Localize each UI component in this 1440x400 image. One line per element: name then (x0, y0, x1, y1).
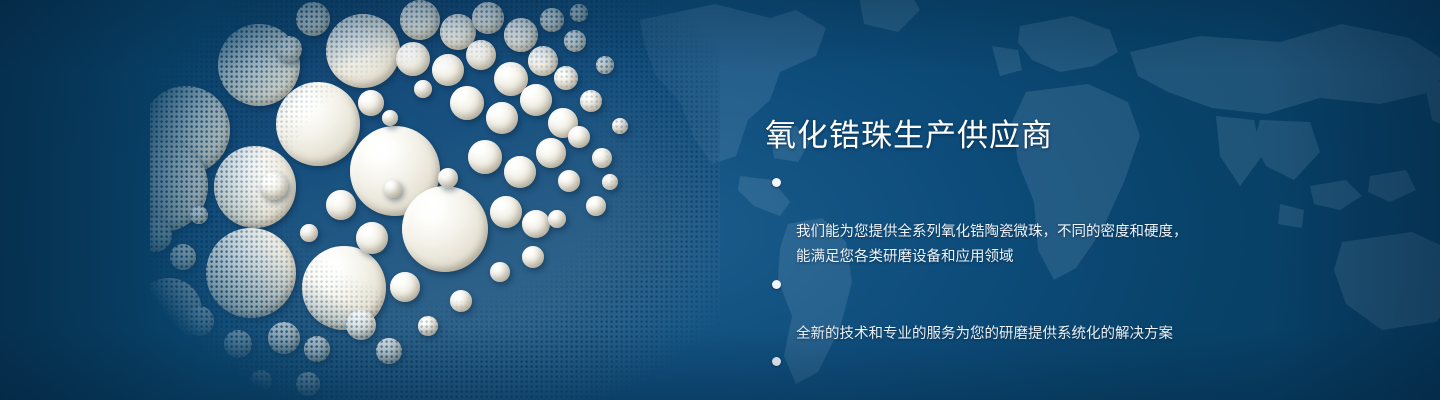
banner-copy: 氧化锆珠生产供应商 我们能为您提供全系列氧化锆陶瓷微珠，不同的密度和硬度， 能满… (765, 0, 1385, 400)
list-item: 采用国际标准的生产工艺，随时为您提供研磨介质产品 (770, 349, 1188, 400)
filled-circle-bullet-icon (772, 357, 781, 366)
list-item: 我们能为您提供全系列氧化锆陶瓷微珠，不同的密度和硬度， 能满足您各类研磨设备和应… (770, 170, 1188, 270)
bullet-text: 我们能为您提供全系列氧化锆陶瓷微珠，不同的密度和硬度， 能满足您各类研磨设备和应… (796, 224, 1188, 265)
list-item: 全新的技术和专业的服务为您的研磨提供系统化的解决方案 (770, 272, 1188, 347)
feature-bullet-list: 我们能为您提供全系列氧化锆陶瓷微珠，不同的密度和硬度， 能满足您各类研磨设备和应… (770, 170, 1188, 400)
filled-circle-bullet-icon (772, 280, 781, 289)
product-photo-zirconia-beads (150, 0, 720, 400)
bead-cluster (150, 0, 720, 400)
hero-banner: 氧化锆珠生产供应商 我们能为您提供全系列氧化锆陶瓷微珠，不同的密度和硬度， 能满… (0, 0, 1440, 400)
filled-circle-bullet-icon (772, 178, 781, 187)
banner-headline: 氧化锆珠生产供应商 (765, 110, 1053, 155)
bullet-text: 全新的技术和专业的服务为您的研磨提供系统化的解决方案 (796, 326, 1173, 342)
